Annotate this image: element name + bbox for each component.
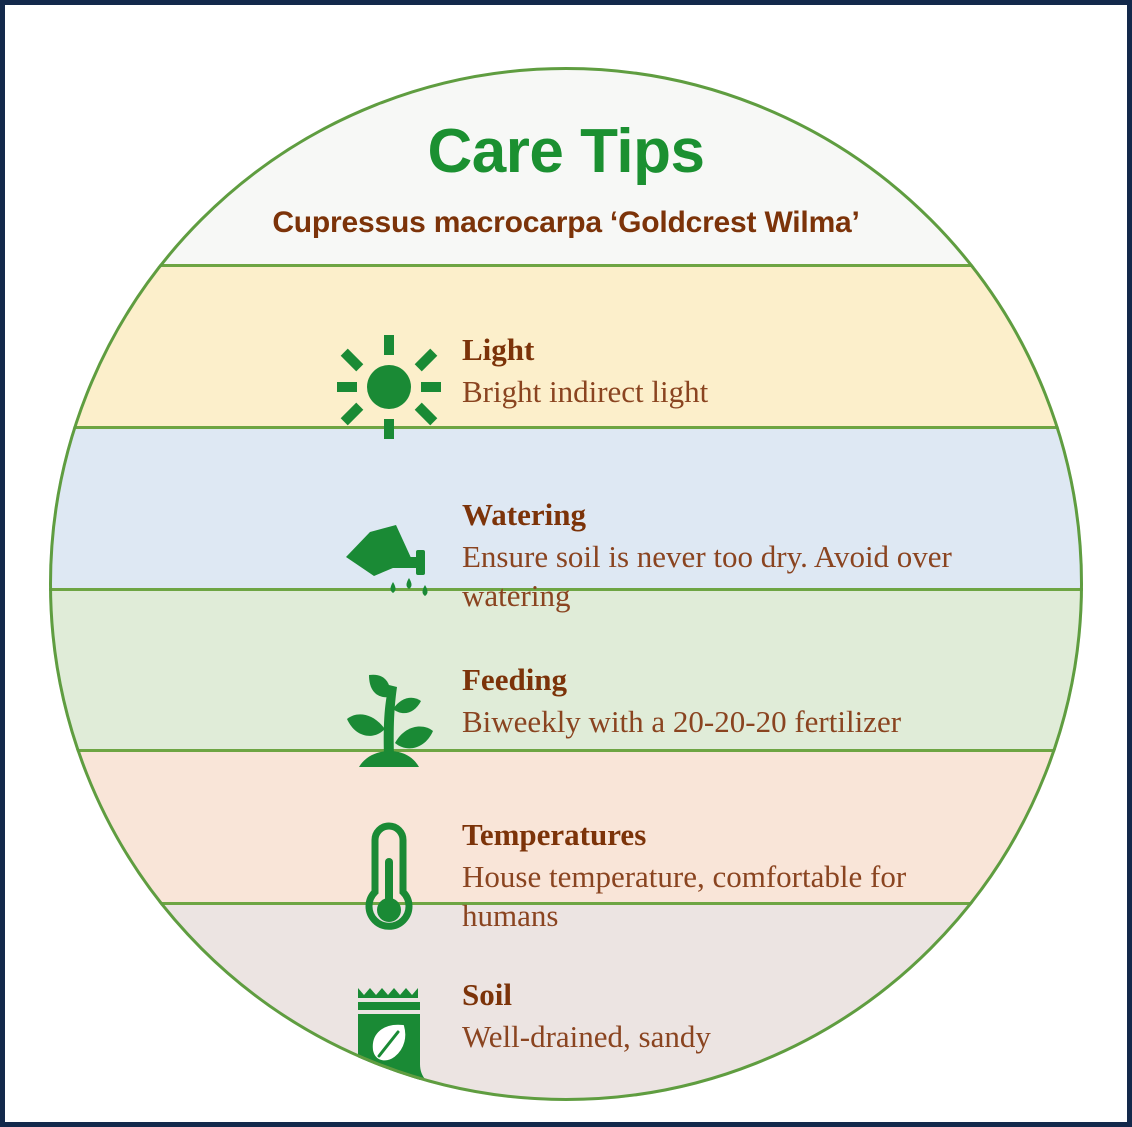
icon-cell-light xyxy=(324,332,454,442)
page-title: Care Tips xyxy=(49,119,1083,184)
icon-cell-feeding xyxy=(324,662,454,777)
plant-species-subtitle: Cupressus macrocarpa ‘Goldcrest Wilma’ xyxy=(49,206,1083,240)
row-title-soil: Soil xyxy=(462,977,711,1013)
row-desc-soil: Well-drained, sandy xyxy=(462,1017,711,1057)
care-row-feeding: Feeding Biweekly with a 20-20-20 fertili… xyxy=(324,662,901,777)
text-cell-soil: Soil Well-drained, sandy xyxy=(454,977,711,1056)
row-desc-watering: Ensure soil is never too dry. Avoid over… xyxy=(462,537,992,616)
seedling-icon xyxy=(339,667,439,773)
header-block: Care Tips Cupressus macrocarpa ‘Goldcres… xyxy=(49,67,1083,240)
care-row-temperature: Temperatures House temperature, comforta… xyxy=(324,817,992,942)
thermometer-icon xyxy=(354,820,424,940)
row-desc-temperature: House temperature, comfortable for human… xyxy=(462,857,992,936)
text-cell-temperature: Temperatures House temperature, comforta… xyxy=(454,817,992,936)
row-desc-feeding: Biweekly with a 20-20-20 fertilizer xyxy=(462,702,901,742)
row-title-feeding: Feeding xyxy=(462,662,901,698)
sun-icon xyxy=(337,335,441,439)
row-title-temperature: Temperatures xyxy=(462,817,992,853)
infographic-canvas: Care Tips Cupressus macrocarpa ‘Goldcres… xyxy=(5,5,1132,1127)
text-cell-light: Light Bright indirect light xyxy=(454,332,708,411)
care-wheel: Care Tips Cupressus macrocarpa ‘Goldcres… xyxy=(49,67,1083,1101)
care-row-soil: Soil Well-drained, sandy xyxy=(324,977,711,1087)
row-desc-light: Bright indirect light xyxy=(462,372,708,412)
soil-bag-icon xyxy=(346,980,432,1084)
care-row-watering: Watering Ensure soil is never too dry. A… xyxy=(324,497,992,617)
watering-can-icon xyxy=(334,502,444,612)
icon-cell-watering xyxy=(324,497,454,617)
text-cell-watering: Watering Ensure soil is never too dry. A… xyxy=(454,497,992,616)
care-tips-infographic: Care Tips Cupressus macrocarpa ‘Goldcres… xyxy=(0,0,1132,1127)
row-title-light: Light xyxy=(462,332,708,368)
icon-cell-temperature xyxy=(324,817,454,942)
row-title-watering: Watering xyxy=(462,497,992,533)
care-row-light: Light Bright indirect light xyxy=(324,332,708,442)
text-cell-feeding: Feeding Biweekly with a 20-20-20 fertili… xyxy=(454,662,901,741)
icon-cell-soil xyxy=(324,977,454,1087)
